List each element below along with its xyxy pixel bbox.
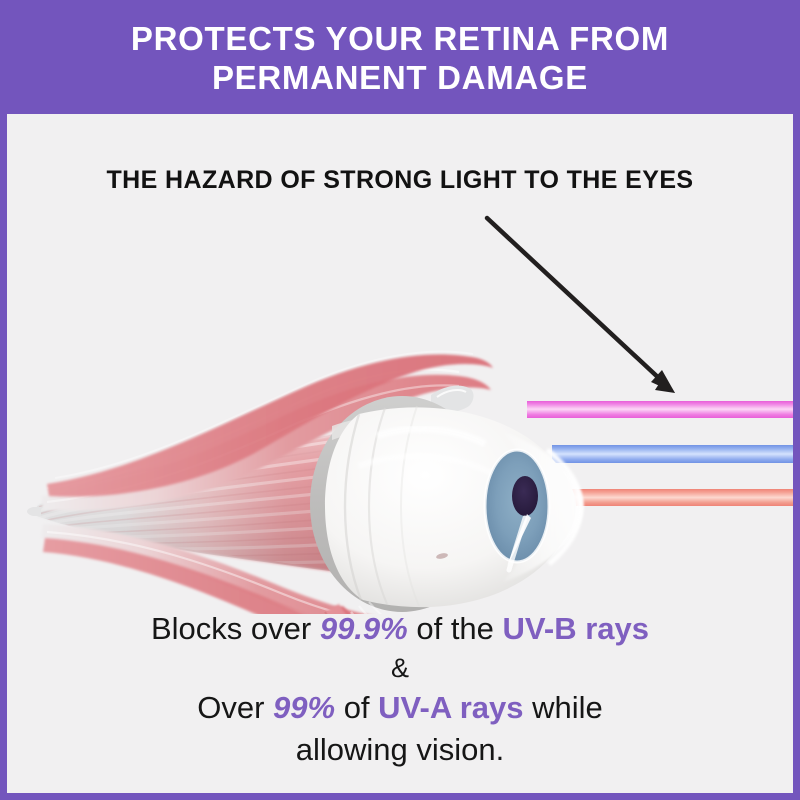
copy-line-4: allowing vision. <box>7 729 793 771</box>
copy-line-1-prefix: Blocks over <box>151 611 320 646</box>
copy-line-1: Blocks over 99.9% of the UV-B rays <box>7 608 793 650</box>
eyeball <box>310 396 583 612</box>
copy-line-1-mid: of the <box>408 611 503 646</box>
benefit-copy: Blocks over 99.9% of the UV-B rays & Ove… <box>7 608 793 771</box>
copy-line-3-prefix: Over <box>197 690 273 725</box>
visible-ray <box>552 445 793 463</box>
copy-line-3-mid: of <box>335 690 378 725</box>
uv-b-ray <box>527 401 793 418</box>
uvb-label: UV-B rays <box>503 611 649 646</box>
pupil <box>512 476 538 516</box>
header-banner: PROTECTS YOUR RETINA FROM PERMANENT DAMA… <box>0 0 800 114</box>
uva-percentage: 99% <box>273 690 335 725</box>
uva-label: UV-A rays <box>378 690 523 725</box>
header-title-line-2: PERMANENT DAMAGE <box>212 59 588 98</box>
pointer-arrow <box>487 218 675 393</box>
header-title-line-1: PROTECTS YOUR RETINA FROM <box>131 20 669 59</box>
content-panel: THE HAZARD OF STRONG LIGHT TO THE EYES <box>7 114 793 793</box>
copy-line-3-suffix: while <box>523 690 602 725</box>
uvb-percentage: 99.9% <box>320 611 408 646</box>
poster-root: PROTECTS YOUR RETINA FROM PERMANENT DAMA… <box>0 0 800 800</box>
copy-ampersand: & <box>7 650 793 687</box>
eye-illustration-svg <box>7 114 793 614</box>
eye-illustration <box>7 114 793 614</box>
copy-line-3: Over 99% of UV-A rays while <box>7 687 793 729</box>
